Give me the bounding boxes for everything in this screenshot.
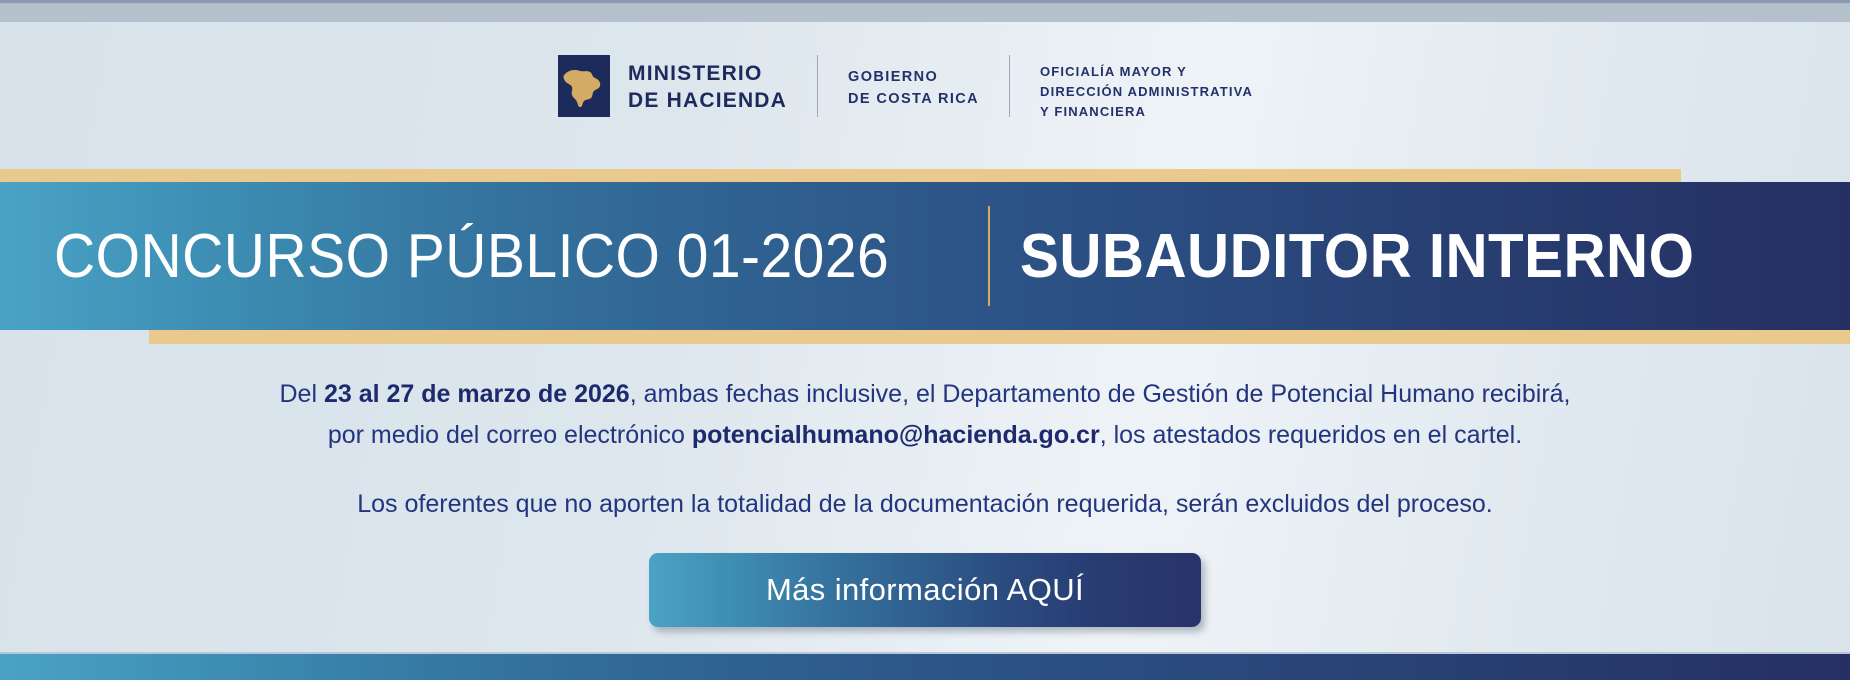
banner-gold-bar-top — [0, 169, 1681, 182]
top-accent-strip — [0, 0, 1850, 22]
banner-gold-bar-bottom — [149, 330, 1850, 344]
office-name-line2: DIRECCIÓN ADMINISTRATIVA — [1040, 82, 1253, 102]
body-line1-pre: Del — [280, 380, 324, 408]
body-line2-post: , los atestados requeridos en el cartel. — [1100, 421, 1522, 449]
body-paragraph-1: Del 23 al 27 de marzo de 2026, ambas fec… — [0, 374, 1850, 455]
body-line1-dates: 23 al 27 de marzo de 2026 — [324, 380, 630, 408]
office-name: OFICIALÍA MAYOR Y DIRECCIÓN ADMINISTRATI… — [1040, 55, 1253, 122]
ministry-name-line2: DE HACIENDA — [628, 88, 787, 115]
ministry-name-line1: MINISTERIO — [628, 61, 787, 88]
title-banner: CONCURSO PÚBLICO 01-2026 SUBAUDITOR INTE… — [0, 182, 1850, 330]
header-divider-1 — [817, 55, 818, 117]
ministry-name: MINISTERIO DE HACIENDA — [628, 55, 787, 115]
mas-informacion-button[interactable]: Más información AQUÍ — [649, 553, 1201, 627]
office-name-line3: Y FINANCIERA — [1040, 102, 1253, 122]
body-line1-post: , ambas fechas inclusive, el Departament… — [630, 380, 1571, 408]
body-paragraph-2: Los oferentes que no aporten la totalida… — [0, 490, 1850, 519]
promo-poster: MINISTERIO DE HACIENDA GOBIERNO DE COSTA… — [0, 0, 1850, 680]
cta-container: Más información AQUÍ — [0, 553, 1850, 627]
banner-title-divider — [988, 206, 990, 306]
costa-rica-map-emblem-icon — [558, 55, 610, 117]
contact-email: potencialhumano@hacienda.go.cr — [692, 421, 1100, 449]
institutional-logo-row: MINISTERIO DE HACIENDA GOBIERNO DE COSTA… — [558, 55, 1253, 127]
body-paragraph-1-line-2: por medio del correo electrónico potenci… — [0, 415, 1850, 456]
bottom-accent-strip — [0, 654, 1850, 680]
government-name-line2: DE COSTA RICA — [848, 89, 979, 111]
top-accent-hairline — [0, 0, 1850, 3]
banner-title-left: CONCURSO PÚBLICO 01-2026 — [54, 221, 889, 292]
body-line2-pre: por medio del correo electrónico — [328, 421, 692, 449]
banner-title-right: SUBAUDITOR INTERNO — [1020, 221, 1694, 292]
office-name-line1: OFICIALÍA MAYOR Y — [1040, 62, 1253, 82]
government-name: GOBIERNO DE COSTA RICA — [848, 55, 979, 111]
header-divider-2 — [1009, 55, 1010, 117]
government-name-line1: GOBIERNO — [848, 67, 979, 89]
body-paragraph-1-line-1: Del 23 al 27 de marzo de 2026, ambas fec… — [0, 374, 1850, 415]
